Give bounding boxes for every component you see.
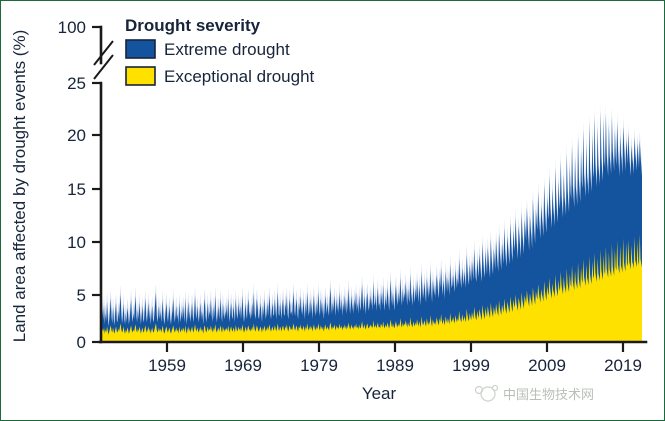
legend-swatch-extreme-drought: [126, 40, 155, 58]
x-tick-label-2009: 2009: [528, 356, 566, 375]
x-tick-label-1979: 1979: [300, 356, 338, 375]
y-tick-label-0: 0: [77, 333, 86, 352]
legend-swatch-exceptional-drought: [126, 67, 155, 85]
y-tick-label-20: 20: [67, 126, 86, 145]
x-tick-label-1999: 1999: [452, 356, 490, 375]
watermark-label: 中国生物技术网: [503, 387, 594, 402]
x-tick-label-1969: 1969: [224, 356, 262, 375]
y-axis-title: Land area affected by drought events (%): [10, 30, 29, 343]
y-tick-label-10: 10: [67, 233, 86, 252]
legend-label-exceptional-drought: Exceptional drought: [164, 67, 315, 86]
x-tick-label-2019: 2019: [604, 356, 642, 375]
y-tick-label-5: 5: [77, 286, 86, 305]
legend-title: Drought severity: [125, 16, 261, 35]
drought-area-chart: 100 25 20 15 10 5 0 Land area affected b…: [1, 1, 665, 421]
y-tick-label-15: 15: [67, 180, 86, 199]
y-tick-label-100: 100: [58, 18, 86, 37]
x-tick-label-1989: 1989: [376, 356, 414, 375]
legend-label-extreme-drought: Extreme drought: [164, 40, 290, 59]
x-tick-label-1959: 1959: [148, 356, 186, 375]
y-tick-label-25: 25: [67, 74, 86, 93]
chart-page: 100 25 20 15 10 5 0 Land area affected b…: [0, 0, 665, 421]
x-axis-title: Year: [362, 384, 397, 403]
